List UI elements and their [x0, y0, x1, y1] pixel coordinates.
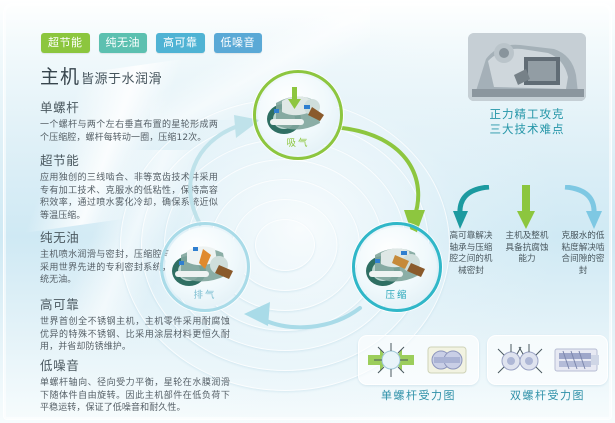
page-title: 主机 皆源于水润滑: [40, 62, 162, 89]
cycle-stage-intake-label: 吸气: [253, 135, 343, 149]
force-diagram-caption-single-screw: 单螺杆受力图: [358, 387, 479, 403]
compressor-unit-illustration: [468, 33, 586, 101]
technical-points-list: 高可靠解决轴承与压缩腔之间的机械密封 主机及整机具备抗腐蚀能力 克服水的低粘度解…: [443, 185, 611, 277]
page-title-main: 主机: [40, 62, 80, 89]
section-single-screw: 单螺杆 一个螺杆与两个左右垂直布置的星轮形成两个压缩腔，螺杆每转动一圈，压缩12…: [40, 97, 218, 144]
cycle-stage-exhaust[interactable]: 排气: [160, 222, 250, 312]
technical-point-meshing-gap-seal: 克服水的低粘度解决啮合间隙的密封: [555, 185, 611, 277]
section-super-energy-saving: 超节能 应用独创的三线啮合、非等宽齿技术并采用专有加工技术、克服水的低粘性，保持…: [40, 150, 218, 222]
section-title: 超节能: [40, 150, 218, 169]
section-body: 世界首创全不锈钢主机，主机零件采用耐腐蚀优异的特殊不锈钢、比采用涂层材料更恒久耐…: [40, 316, 230, 354]
technical-challenges-title: 正力精工攻克 三大技术难点: [443, 107, 611, 137]
feature-tag-high-reliability[interactable]: 高可靠: [156, 33, 205, 53]
technical-challenges-title-line1: 正力精工攻克: [443, 107, 611, 122]
curved-arrow-down-icon: [561, 185, 605, 231]
cycle-stage-compression[interactable]: 压缩: [352, 222, 442, 312]
technical-point-text: 克服水的低粘度解决啮合间隙的密封: [558, 231, 608, 277]
curved-arrow-down-icon: [449, 185, 493, 231]
twin-screw-rotor-icon: [551, 341, 601, 379]
section-low-noise: 低噪音 单螺杆轴向、径向受力平衡，星轮在水膜润滑下随体件自由旋转。因此主机部件在…: [40, 355, 230, 415]
feature-tag-oil-free[interactable]: 纯无油: [99, 33, 148, 53]
page-title-sub: 皆源于水润滑: [81, 68, 162, 87]
section-body: 单螺杆轴向、径向受力平衡，星轮在水膜润滑下随体件自由旋转。因此主机部件在低负荷下…: [40, 377, 230, 415]
section-title: 单螺杆: [40, 97, 218, 116]
feature-tag-low-noise[interactable]: 低噪音: [214, 33, 263, 53]
technical-point-text: 高可靠解决轴承与压缩腔之间的机械密封: [446, 231, 496, 277]
infographic-page: 超节能 纯无油 高可靠 低噪音 主机 皆源于水润滑 单螺杆 一个螺杆与两个左右垂…: [0, 0, 615, 423]
compressor-photo: [468, 33, 586, 101]
feature-tag-super-energy-saving[interactable]: 超节能: [41, 33, 90, 53]
force-diagram-panel-twin-screw[interactable]: [487, 335, 608, 385]
force-diagram-panel-single-screw[interactable]: [358, 335, 479, 385]
single-screw-force-diagram-icon: [366, 341, 416, 379]
cycle-stage-exhaust-label: 排气: [160, 287, 250, 301]
technical-point-text: 主机及整机具备抗腐蚀能力: [502, 231, 552, 266]
section-title: 低噪音: [40, 355, 230, 374]
straight-arrow-down-icon: [505, 185, 549, 231]
technical-point-mechanical-seal: 高可靠解决轴承与压缩腔之间的机械密封: [443, 185, 499, 277]
twin-screw-force-diagram-icon: [495, 341, 545, 379]
cycle-stage-intake[interactable]: 吸气: [253, 70, 343, 160]
force-diagram-caption-twin-screw: 双螺杆受力图: [487, 387, 608, 403]
single-screw-rotor-icon: [422, 341, 472, 379]
cycle-stage-compression-label: 压缩: [352, 287, 442, 301]
cycle-arrow-compression-to-exhaust: [236, 286, 366, 346]
technical-challenges-title-line2: 三大技术难点: [443, 122, 611, 137]
section-body: 应用独创的三线啮合、非等宽齿技术并采用专有加工技术、克服水的低粘性，保持高容积效…: [40, 172, 218, 222]
feature-tag-list: 超节能 纯无油 高可靠 低噪音: [41, 33, 262, 53]
section-body: 一个螺杆与两个左右垂直布置的星轮形成两个压缩腔，螺杆每转动一圈，压缩12次。: [40, 119, 218, 144]
technical-challenges-block: 正力精工攻克 三大技术难点 高可靠解决轴承与压缩腔之间的机械密封 主机及整机具备…: [443, 33, 611, 137]
technical-point-corrosion-resistance: 主机及整机具备抗腐蚀能力: [499, 185, 555, 277]
